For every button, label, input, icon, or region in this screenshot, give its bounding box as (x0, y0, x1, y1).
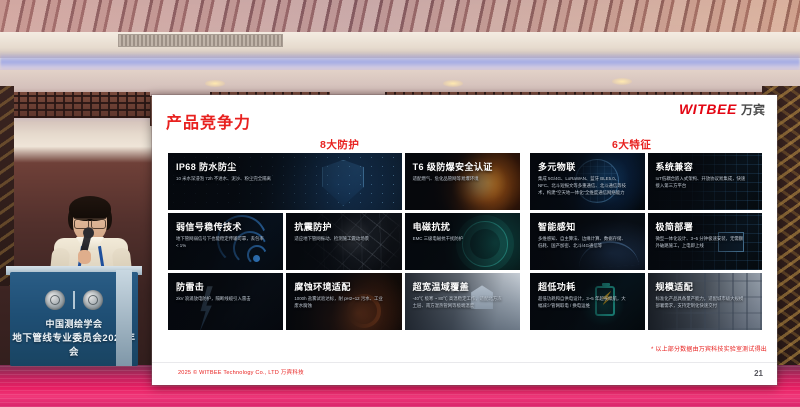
card-emc[interactable]: 电磁抗扰 EMC 三级电磁抗干扰防护 (405, 213, 520, 270)
downlight-icon (443, 80, 463, 87)
feature-card-grid: 多元物联 集成 5G/4G、LoRaWAN、蓝牙 BLE5.0、NFC、北斗短报… (530, 153, 762, 330)
card-lightning[interactable]: 防雷击 2kV 浪涌放电防护，隔断线缆引入雷击 (168, 273, 283, 330)
card-title: 系统兼容 (656, 160, 755, 173)
card-smart-sensing[interactable]: 智能感知 多维感知、自主算法、边缘计算、数据存储、低耗、国产加密、北斗/4G通信… (530, 213, 645, 270)
conference-photo: 中国测绘学会 地下管线专业委员会2025年会 产品竞争力 WITBEE 万宾 8… (0, 0, 800, 407)
card-title: 腐蚀环境适配 (294, 280, 393, 293)
brand-name-cn: 万宾 (741, 101, 765, 118)
card-title: 弱信号稳传技术 (176, 220, 275, 233)
card-subtitle: 适应地下管网振动、检测施工震动场景 (294, 236, 385, 243)
lattice-panel (0, 92, 150, 118)
card-ip68[interactable]: IP68 防水防尘 10 米水深浸泡 72h 不进水、泥沙、粉尘完全隔离 (168, 153, 402, 210)
card-corrosion[interactable]: 腐蚀环境适配 1000h 盐雾试验达标，耐 pH2~12 污水、工业废水腐蚀 (286, 273, 401, 330)
card-title: 智能感知 (538, 220, 637, 233)
card-subtitle: 地下管网弱信号下也能稳定传输可靠，丢包率 < 1% (176, 236, 267, 250)
downlight-icon (612, 78, 632, 85)
brand-logo: WITBEE 万宾 (679, 101, 765, 118)
card-subtitle: EMC 三级电磁抗干扰防护 (413, 236, 504, 243)
brand-name-en: WITBEE (679, 101, 737, 117)
card-subtitle: 多维感知、自主算法、边缘计算、数据存储、低耗、国产加密、北斗/4G通信等 (538, 236, 629, 250)
card-scale-adaptation[interactable]: 规模适配 标准化产品具备量产能力，适配城市级大规模部署需求，支持定制化快速交付 (648, 273, 763, 330)
card-shock-resistance[interactable]: 抗震防护 适应地下管网振动、检测施工震动场景 (286, 213, 401, 270)
projection-screen: 产品竞争力 WITBEE 万宾 8大防护 6大特征 IP68 防水防尘 10 米… (152, 95, 777, 385)
card-subtitle: 10 米水深浸泡 72h 不进水、泥沙、粉尘完全隔离 (176, 176, 376, 183)
card-title: 抗震防护 (294, 220, 393, 233)
committee-logo-icon (83, 290, 103, 310)
footer-divider (152, 362, 777, 363)
footer-copyright: 2025 © WITBEE Technology Co., LTD 万宾科技 (178, 368, 304, 376)
card-low-power[interactable]: 超低功耗 超低功耗和自供电设计，3~5 年超长续航，大幅减少管网取电 / 换电运… (530, 273, 645, 330)
card-subtitle: 适配燃气、危化品管网等易爆环境 (413, 176, 504, 183)
section-heading-features: 6大特征 (612, 137, 651, 152)
drape-left (0, 86, 14, 286)
card-weak-signal[interactable]: 弱信号稳传技术 地下管网弱信号下也能稳定传输可靠，丢包率 < 1% (168, 213, 283, 270)
card-subtitle: 标准化产品具备量产能力，适配城市级大规模部署需求，支持定制化快速交付 (656, 296, 747, 310)
glasses-icon (74, 218, 106, 226)
card-subtitle: 超低功耗和自供电设计，3~5 年超长续航，大幅减少管网取电 / 换电运维 (538, 296, 629, 310)
card-explosion-proof[interactable]: T6 级防爆安全认证 适配燃气、危化品管网等易爆环境 (405, 153, 520, 210)
card-subtitle: 集成 5G/4G、LoRaWAN、蓝牙 BLE5.0、NFC、北斗短报文等多重通… (538, 176, 629, 196)
card-title: IP68 防水防尘 (176, 160, 394, 173)
card-title: 超宽温域覆盖 (413, 280, 512, 293)
logo-divider (73, 291, 75, 309)
card-title: T6 级防爆安全认证 (413, 160, 512, 173)
society-logo-icon (45, 290, 65, 310)
section-heading-protection: 8大防护 (320, 137, 359, 152)
page-number: 21 (754, 369, 763, 378)
ceiling-beams (0, 0, 800, 36)
card-multi-iot[interactable]: 多元物联 集成 5G/4G、LoRaWAN、蓝牙 BLE5.0、NFC、北斗短报… (530, 153, 645, 210)
card-title: 极简部署 (656, 220, 755, 233)
protection-card-grid: IP68 防水防尘 10 米水深浸泡 72h 不进水、泥沙、粉尘完全隔离 T6 … (168, 153, 520, 330)
card-title: 多元物联 (538, 160, 637, 173)
presenter-hand (78, 250, 91, 264)
card-wide-temperature[interactable]: 超宽温域覆盖 -40℃ 极寒 ~ 80℃ 高温稳定工作，适配北方冻土层、南方湿热… (405, 273, 520, 330)
card-system-compat[interactable]: 系统兼容 IoT低耦合嵌入式架构、开放协议易集成，快速接入第三方平台 (648, 153, 763, 210)
page-title: 产品竞争力 (166, 109, 251, 133)
card-subtitle: -40℃ 极寒 ~ 80℃ 高温稳定工作，适配北方冻土层、南方湿热管网等极端温度 (413, 296, 504, 310)
card-subtitle: IoT低耦合嵌入式架构、开放协议易集成，快速接入第三方平台 (656, 176, 747, 190)
card-subtitle: 2kV 浪涌放电防护，隔断线缆引入雷击 (176, 296, 267, 303)
ceiling-vent (118, 34, 283, 47)
card-subtitle: 微型一体化设计、3~5 分钟极速安装，无需额外破路施工，上电即上线 (656, 236, 747, 250)
card-title: 电磁抗扰 (413, 220, 512, 233)
card-title: 防雷击 (176, 280, 275, 293)
podium-side (116, 270, 132, 366)
downlight-icon (205, 80, 225, 87)
card-subtitle: 1000h 盐雾试验达标，耐 pH2~12 污水、工业废水腐蚀 (294, 296, 385, 310)
card-title: 超低功耗 (538, 280, 637, 293)
card-title: 规模适配 (656, 280, 755, 293)
card-simple-deploy[interactable]: 极简部署 微型一体化设计、3~5 分钟极速安装，无需额外破路施工，上电即上线 (648, 213, 763, 270)
slide-footnote: * 以上部分数据由万宾科技实验室测试得出 (651, 344, 767, 353)
